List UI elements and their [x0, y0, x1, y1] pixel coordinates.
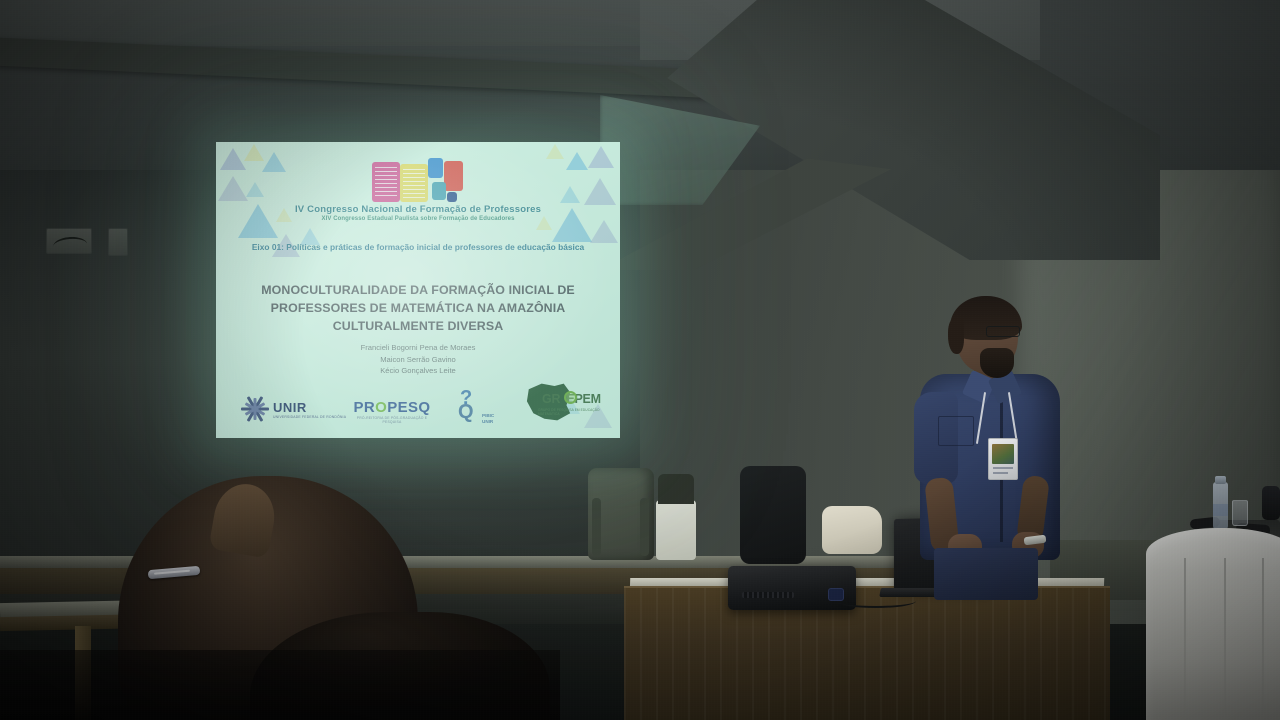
- presenter-badge: [988, 438, 1018, 480]
- water-bottle-cap: [1215, 476, 1226, 484]
- bottle-label: [1213, 504, 1228, 516]
- logo-tile-red: [444, 161, 463, 191]
- presenter-beard: [980, 348, 1014, 378]
- projection-screen: IV Congresso Nacional de Formação de Pro…: [216, 142, 620, 438]
- logo-tile-blue: [428, 158, 443, 178]
- logo-propesq-sublabel: PRÓ-REITORIA DE PÓS-GRADUAÇÃO E PESQUISA: [348, 416, 436, 424]
- presenter-shirt-pocket: [938, 416, 974, 446]
- water-bottle[interactable]: [1213, 482, 1228, 530]
- bench-item-white-bag[interactable]: [656, 500, 696, 560]
- congress-logo-icon: [370, 158, 466, 204]
- side-table-cloth: [1146, 528, 1280, 720]
- light-switch-plate[interactable]: [108, 228, 128, 256]
- badge-text-line: [993, 467, 1013, 469]
- logo-pibic: ? Q PIBICUNIR: [458, 392, 494, 424]
- foreground-shadow: [0, 650, 560, 720]
- presentation-slide: IV Congresso Nacional de Formação de Pro…: [216, 142, 620, 438]
- slide-logo-row: UNIR UNIVERSIDADE FEDERAL DE RONDÔNIA PR…: [226, 378, 614, 424]
- slide-main-title: MONOCULTURALIDADE DA FORMAÇÃO INICIAL DE…: [238, 282, 598, 336]
- logo-unir-sublabel: UNIVERSIDADE FEDERAL DE RONDÔNIA: [273, 415, 346, 419]
- badge-text-line: [993, 472, 1008, 474]
- cloth-fold: [1184, 558, 1186, 718]
- author-name: Kécio Gonçalves Leite: [216, 365, 620, 377]
- wall-hook-icon: [53, 236, 88, 248]
- author-name: Maicon Serrão Gavino: [216, 354, 620, 366]
- logo-tile-lines: [403, 169, 425, 198]
- logo-propesq: PROPESQ PRÓ-REITORIA DE PÓS-GRADUAÇÃO E …: [348, 399, 436, 424]
- white-bag-top: [658, 474, 694, 504]
- projector[interactable]: [728, 566, 856, 610]
- presenter-trousers: [934, 548, 1038, 600]
- logo-gepem: GREPEM GRUPO DE PESQUISA EM EDUCAÇÃO MAT…: [526, 382, 618, 424]
- congress-title: IV Congresso Nacional de Formação de Pro…: [216, 204, 620, 215]
- congress-subtitle: XIV Congresso Estadual Paulista sobre Fo…: [216, 216, 620, 222]
- pibic-q-icon: Q: [458, 404, 474, 420]
- cloth-fold: [1262, 558, 1264, 718]
- logo-unir-label: UNIR: [273, 400, 307, 415]
- logo-unir: UNIR UNIVERSIDADE FEDERAL DE RONDÔNIA: [240, 394, 346, 424]
- bench-item-black-bag[interactable]: [740, 466, 806, 564]
- slide-axis-line: Eixo 01: Políticas e práticas de formaçã…: [250, 242, 586, 254]
- drinking-glass[interactable]: [1232, 500, 1248, 526]
- ceiling-left-panel: [0, 0, 640, 46]
- logo-tile-navy: [447, 192, 457, 202]
- cloth-fold: [1224, 558, 1226, 718]
- conference-room-photo: IV Congresso Nacional de Formação de Pro…: [0, 0, 1280, 720]
- wall-hook-plate: [46, 228, 92, 254]
- presenter: [908, 296, 1084, 596]
- projector-vent: [742, 592, 794, 598]
- presenter-glasses-icon: [986, 326, 1020, 337]
- unir-star-icon: [240, 394, 270, 424]
- presenter-hair-side: [948, 318, 964, 354]
- logo-tile-pink: [372, 162, 400, 202]
- av-cable: [836, 594, 916, 608]
- logo-tile-lines: [375, 167, 397, 198]
- logo-tile-yellow: [400, 164, 428, 202]
- author-name: Francieli Bogorni Pena de Moraes: [216, 342, 620, 354]
- backpack-strap: [640, 498, 649, 556]
- backpack-strap: [592, 498, 601, 556]
- audience-hair-part: [208, 479, 279, 558]
- side-table-object[interactable]: [1262, 486, 1280, 520]
- gepem-magnifier-icon: [564, 391, 577, 404]
- logo-tile-teal: [432, 182, 446, 200]
- logo-pibic-label: PIBICUNIR: [482, 413, 494, 424]
- slide-authors: Francieli Bogorni Pena de Moraes Maicon …: [216, 342, 620, 377]
- bench-item-backpack[interactable]: [588, 468, 654, 560]
- badge-photo: [992, 444, 1014, 464]
- logo-propesq-label: PROPESQ: [353, 399, 430, 416]
- logo-gepem-sublabel: GRUPO DE PESQUISA EM EDUCAÇÃO MATEMÁTICA: [538, 408, 612, 416]
- bench-item-cloth-bag[interactable]: [822, 506, 882, 554]
